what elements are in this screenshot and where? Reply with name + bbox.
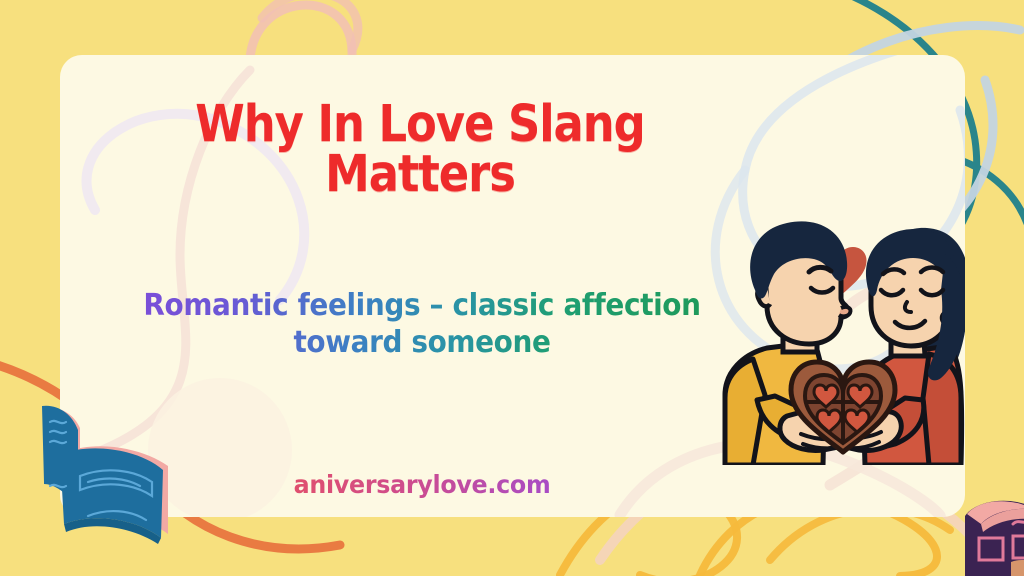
poster-canvas: Why In Love Slang Matters Romantic feeli… bbox=[0, 0, 1024, 576]
open-book-decoration bbox=[8, 392, 188, 576]
open-book-svg bbox=[8, 392, 188, 576]
content-card: Why In Love Slang Matters Romantic feeli… bbox=[60, 55, 965, 517]
book-right-hand bbox=[1011, 560, 1024, 576]
closed-book-decoration bbox=[955, 498, 1024, 576]
page-title: Why In Love Slang Matters bbox=[156, 100, 684, 201]
squiggle-pink-top-2 bbox=[262, 0, 358, 50]
closed-book-svg bbox=[955, 498, 1024, 576]
couple-illustration-svg bbox=[705, 220, 965, 465]
website-url: aniversarylove.com bbox=[137, 470, 707, 499]
subtitle-text: Romantic feelings – classic affection to… bbox=[143, 288, 701, 361]
couple-illustration bbox=[705, 220, 965, 465]
